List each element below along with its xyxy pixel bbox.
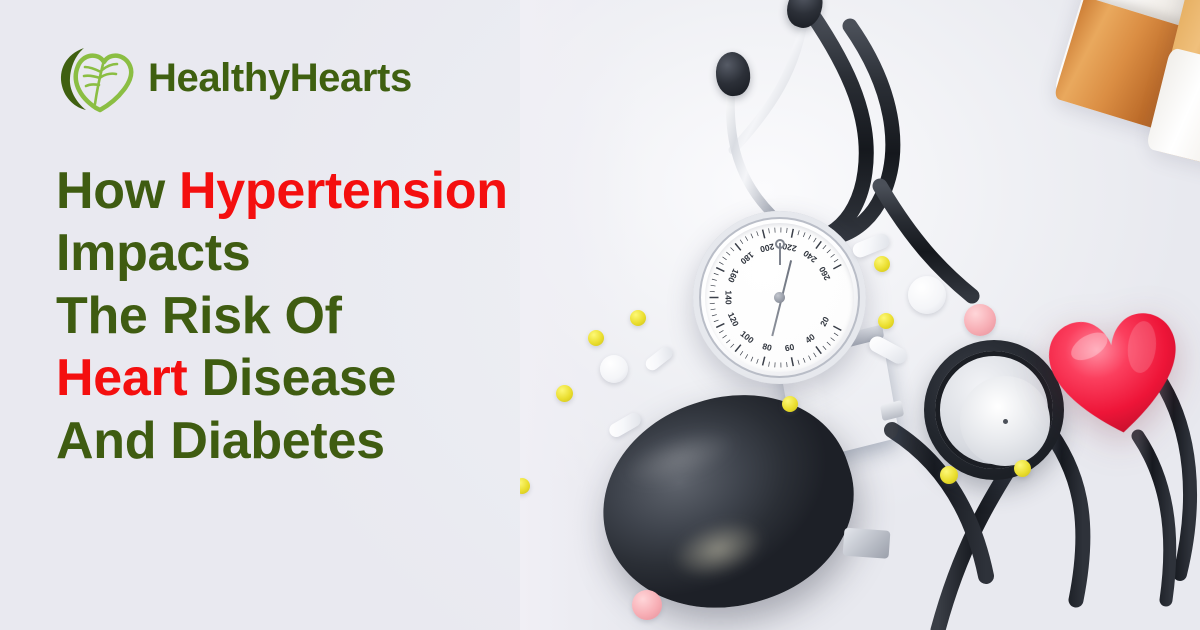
svg-text:40: 40 xyxy=(803,331,817,345)
pill-pink xyxy=(964,304,996,336)
leaf-heart-icon xyxy=(56,42,134,114)
svg-text:160: 160 xyxy=(726,267,741,284)
chestpiece-center-dot xyxy=(1003,419,1008,424)
svg-text:240: 240 xyxy=(801,248,819,265)
pill-pink xyxy=(632,590,662,620)
pill-yellow xyxy=(874,256,890,272)
bulb-valve xyxy=(843,528,891,559)
svg-text:260: 260 xyxy=(817,265,833,282)
headline-line-2: Impacts xyxy=(56,222,560,284)
content-column: HealthyHearts How Hypertension Impacts T… xyxy=(0,0,560,630)
headline-highlight: Heart xyxy=(56,349,187,407)
brand-logo[interactable]: HealthyHearts xyxy=(56,42,560,114)
gauge-needle-pivot-ring xyxy=(775,239,785,249)
headline-highlight: Hypertension xyxy=(179,162,508,220)
pill-yellow xyxy=(630,310,646,326)
gauge-hub xyxy=(774,292,785,303)
chestpiece-ring xyxy=(935,351,1053,469)
pill-white xyxy=(908,276,946,314)
chestpiece-diaphragm xyxy=(960,376,1050,466)
headline-line-5: And Diabetes xyxy=(56,410,560,472)
banner-root: 20406080100120140160180200220240260 xyxy=(0,0,1200,630)
headline-line-1: How Hypertension xyxy=(56,160,560,222)
pill-yellow xyxy=(878,313,894,329)
svg-text:60: 60 xyxy=(784,342,795,354)
page-title: How Hypertension Impacts The Risk Of Hea… xyxy=(56,160,560,472)
svg-text:100: 100 xyxy=(739,329,757,346)
blood-pressure-gauge: 20406080100120140160180200220240260 xyxy=(693,211,866,384)
svg-text:120: 120 xyxy=(726,311,741,328)
headline-line-3: The Risk Of xyxy=(56,285,560,347)
pill-yellow xyxy=(940,466,958,484)
red-heart-icon xyxy=(1036,296,1193,446)
pill-yellow xyxy=(588,330,604,346)
svg-text:80: 80 xyxy=(761,341,773,353)
svg-text:200: 200 xyxy=(759,241,775,254)
hero-photo: 20406080100120140160180200220240260 xyxy=(520,0,1200,630)
gauge-face: 20406080100120140160180200220240260 xyxy=(705,223,854,372)
pill-yellow xyxy=(782,396,798,412)
headline-text: Disease xyxy=(187,349,396,407)
brand-name: HealthyHearts xyxy=(148,58,412,98)
pill-white xyxy=(600,355,628,383)
pill-yellow xyxy=(1014,460,1031,477)
svg-text:20: 20 xyxy=(818,315,831,328)
headline-line-4: Heart Disease xyxy=(56,347,560,409)
bulb-highlight xyxy=(666,510,770,588)
svg-text:140: 140 xyxy=(724,290,734,304)
headline-text: How xyxy=(56,162,179,220)
svg-text:180: 180 xyxy=(738,250,756,267)
